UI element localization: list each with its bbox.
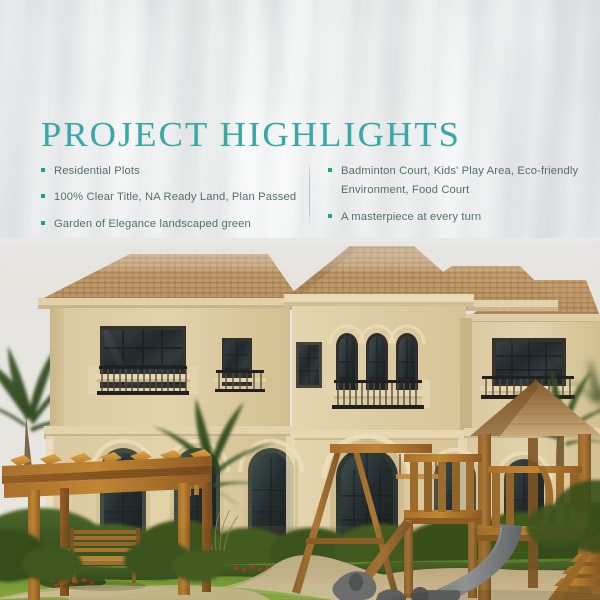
list-item-label: Residential Plots: [54, 162, 140, 181]
list-item: 100% Clear Title, NA Ready Land, Plan Pa…: [41, 188, 303, 207]
list-item-label: A masterpiece at every turn: [341, 208, 481, 227]
poster-canvas: PROJECT HIGHLIGHTS Residential Plots 100…: [0, 0, 600, 600]
bullet-square-icon: [328, 168, 332, 172]
list-item-label: Badminton Court, Kids' Play Area, Eco-fr…: [341, 162, 584, 201]
villa-garden-photo: [0, 238, 600, 600]
bullet-square-icon: [328, 214, 332, 218]
list-item-label: Garden of Elegance landscaped green: [54, 215, 251, 234]
bullet-square-icon: [41, 194, 45, 198]
list-item: Badminton Court, Kids' Play Area, Eco-fr…: [328, 162, 584, 201]
list-item: Garden of Elegance landscaped green: [41, 215, 303, 234]
highlights-left-column: Residential Plots 100% Clear Title, NA R…: [41, 162, 303, 241]
page-title: PROJECT HIGHLIGHTS: [41, 117, 461, 152]
list-item-label: 100% Clear Title, NA Ready Land, Plan Pa…: [54, 188, 296, 207]
list-item: A masterpiece at every turn: [328, 208, 584, 227]
highlights-list: Residential Plots 100% Clear Title, NA R…: [0, 162, 600, 238]
list-item: Residential Plots: [41, 162, 303, 181]
bullet-square-icon: [41, 168, 45, 172]
highlights-right-column: Badminton Court, Kids' Play Area, Eco-fr…: [328, 162, 584, 234]
bullet-square-icon: [41, 221, 45, 225]
